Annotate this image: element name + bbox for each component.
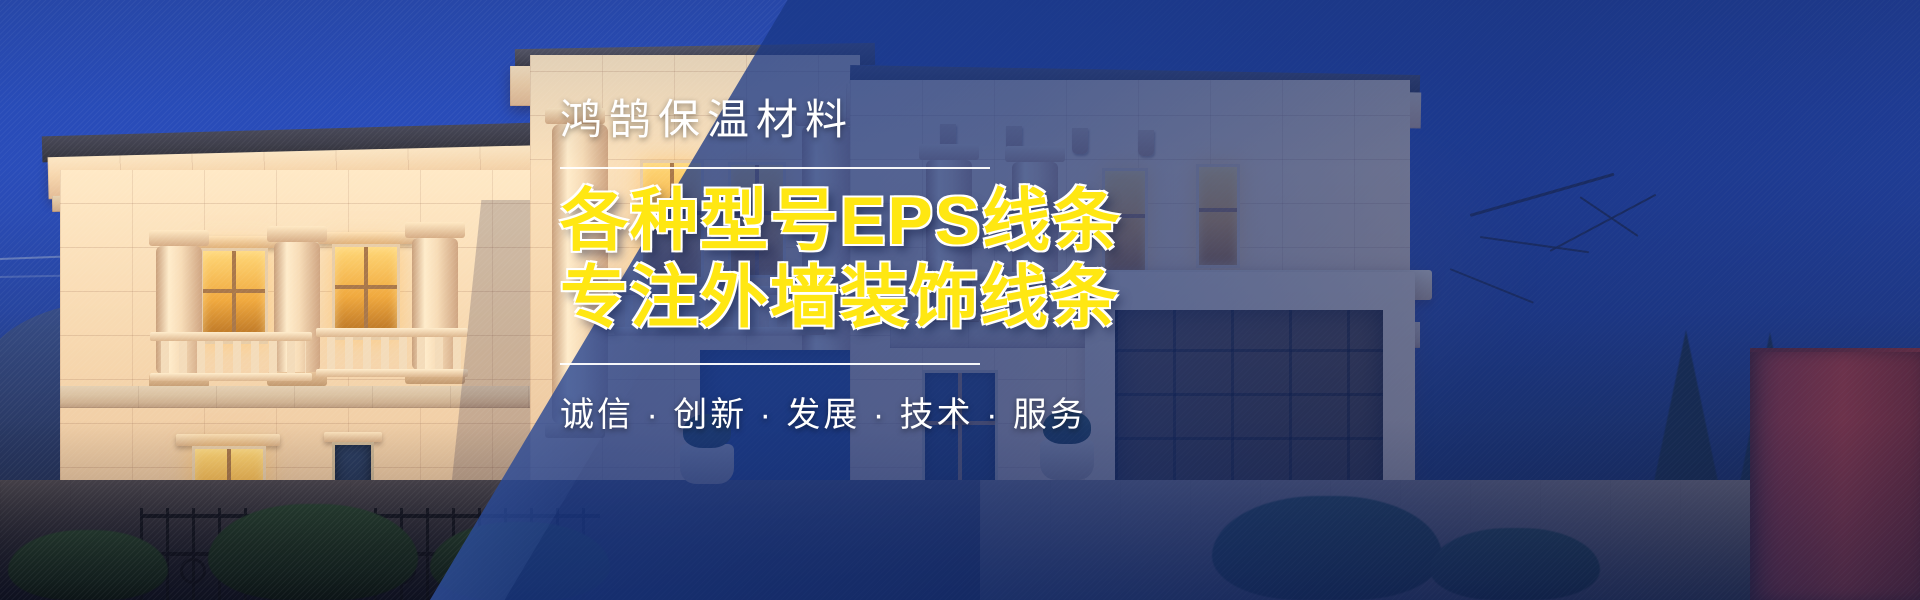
brand-name: 鸿鹄保温材料 <box>560 95 1460 145</box>
headline-line-2: 专注外墙装饰线条 <box>560 260 1460 337</box>
shrub <box>1430 528 1600 600</box>
window-hood <box>324 432 382 442</box>
planter-pot <box>680 444 734 484</box>
window-lit <box>200 248 268 344</box>
hero-banner: 鸿鹄保温材料 各种型号EPS线条 专注外墙装饰线条 诚信 · 创新 · 发展 ·… <box>0 0 1920 600</box>
balustrade <box>322 336 462 370</box>
shrub <box>430 522 610 600</box>
shrub <box>8 530 168 600</box>
window-hood <box>176 434 280 446</box>
red-wall <box>1750 352 1920 600</box>
banner-copy: 鸿鹄保温材料 各种型号EPS线条 专注外墙装饰线条 诚信 · 创新 · 发展 ·… <box>560 95 1460 436</box>
tagline: 诚信 · 创新 · 发展 · 技术 · 服务 <box>560 387 1460 436</box>
headline-line-1: 各种型号EPS线条 <box>560 183 1460 260</box>
divider-bottom <box>560 363 980 365</box>
planter-pot <box>1040 440 1094 480</box>
divider-top <box>560 167 990 169</box>
window-hood <box>318 232 414 244</box>
shrub <box>208 504 418 600</box>
balustrade <box>156 340 306 374</box>
window-lit <box>332 244 400 340</box>
shrub <box>1212 496 1442 600</box>
